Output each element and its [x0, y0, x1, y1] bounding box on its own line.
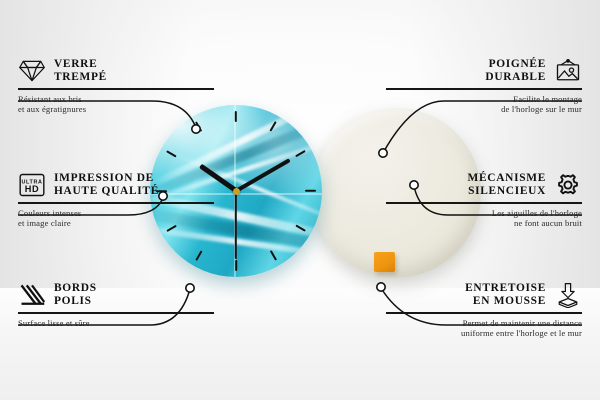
svg-text:HD: HD	[25, 184, 39, 194]
callout-verre-trempe[interactable]: VERRE TREMPÉ Résistant aux bris et aux é…	[18, 58, 214, 114]
clock-center-cap	[233, 188, 240, 195]
gear-icon	[554, 172, 582, 198]
callout-mecanisme-silencieux[interactable]: MÉCANISME SILENCIEUX Les aiguilles de l'…	[386, 172, 582, 228]
callout-header: ultra HD IMPRESSION DE HAUTE QUALITÉ	[18, 172, 214, 198]
callout-divider	[386, 88, 582, 90]
clock-tick	[235, 260, 237, 271]
callout-impression-haute-qualite[interactable]: ultra HD IMPRESSION DE HAUTE QUALITÉ Cou…	[18, 172, 214, 228]
callout-header: VERRE TREMPÉ	[18, 58, 214, 84]
callout-divider	[18, 312, 214, 314]
callout-title: ENTRETOISE EN MOUSSE	[465, 282, 546, 308]
callout-subtitle: Surface lisse et sûre	[18, 318, 214, 328]
callout-entretoise-en-mousse[interactable]: ENTRETOISE EN MOUSSE Permet de maintenir…	[386, 282, 582, 338]
callout-header: POIGNÉE DURABLE	[386, 58, 582, 84]
callout-title: VERRE TREMPÉ	[54, 58, 107, 84]
callout-divider	[18, 202, 214, 204]
callout-subtitle: Les aiguilles de l'horloge ne font aucun…	[386, 208, 582, 229]
callout-divider	[386, 202, 582, 204]
callout-poignee-durable[interactable]: POIGNÉE DURABLE Facilite le montage de l…	[386, 58, 582, 114]
diamond-icon	[18, 58, 46, 84]
callout-title: IMPRESSION DE HAUTE QUALITÉ	[54, 172, 159, 198]
polished-edges-icon	[18, 282, 46, 308]
callout-title: BORDS POLIS	[54, 282, 97, 308]
ultra-hd-icon: ultra HD	[18, 172, 46, 198]
callout-subtitle: Permet de maintenir une distance uniform…	[386, 318, 582, 339]
callout-divider	[18, 88, 214, 90]
hanging-frame-icon	[554, 58, 582, 84]
callout-header: ENTRETOISE EN MOUSSE	[386, 282, 582, 308]
infographic-canvas: VERRE TREMPÉ Résistant aux bris et aux é…	[0, 0, 600, 400]
callout-header: MÉCANISME SILENCIEUX	[386, 172, 582, 198]
callout-subtitle: Facilite le montage de l'horloge sur le …	[386, 94, 582, 115]
callout-bords-polis[interactable]: BORDS POLIS Surface lisse et sûre	[18, 282, 214, 328]
clock-tick	[195, 250, 203, 261]
clock-tick	[269, 250, 277, 261]
callout-title: POIGNÉE DURABLE	[485, 58, 546, 84]
callout-divider	[386, 312, 582, 314]
second-hand	[235, 191, 237, 259]
foam-spacer-icon	[554, 282, 582, 308]
callout-title: MÉCANISME SILENCIEUX	[468, 172, 546, 198]
callout-subtitle: Couleurs intenses et image claire	[18, 208, 214, 229]
callout-subtitle: Résistant aux bris et aux égratignures	[18, 94, 214, 115]
foam-spacer	[374, 252, 395, 272]
callout-header: BORDS POLIS	[18, 282, 214, 308]
